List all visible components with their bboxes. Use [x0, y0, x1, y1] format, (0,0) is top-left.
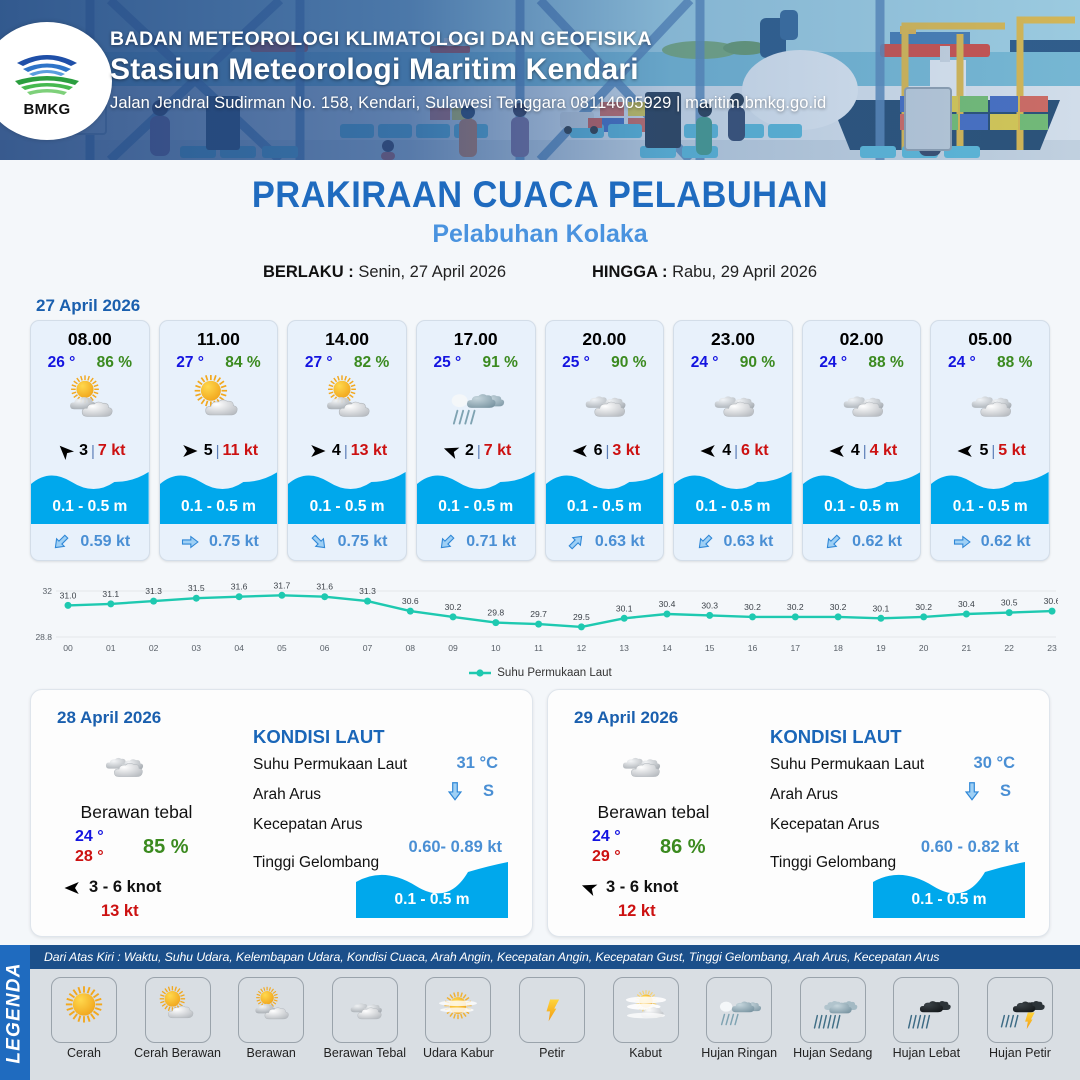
card-wind-speed: 6 [594, 442, 603, 460]
sst-data-point [364, 598, 371, 605]
card-separator: | [606, 443, 610, 460]
valid-from-value: Senin, 27 April 2026 [358, 263, 506, 281]
sst-data-point [877, 615, 884, 622]
card-wind-speed: 4 [332, 442, 341, 460]
current-direction-icon [961, 776, 983, 806]
legend-icon-tile [51, 977, 117, 1043]
y-axis-tick-max: 32 [43, 586, 53, 596]
card-wave-height: 0.1 - 0.5 m [803, 498, 921, 516]
current-direction-icon [564, 532, 588, 552]
card-weather-icon [803, 374, 921, 436]
card-wind-row: 4 | 13 kt [288, 436, 406, 466]
card-humidity: 90 % [740, 354, 775, 372]
card-separator: | [216, 443, 220, 460]
sst-data-label: 30.2 [915, 602, 932, 612]
panel-current-dir-icon [444, 776, 466, 806]
legend-items: Cerah Cerah Berawan Berawan Berawan Teba… [30, 969, 1080, 1060]
weather-icon-cerah-berawan [182, 375, 254, 435]
sst-data-point [920, 613, 927, 620]
card-temp-hum-row: 25 ° 91 % [417, 352, 535, 372]
title-block: PRAKIRAAN CUACA PELABUHAN Pelabuhan Kola… [0, 160, 1080, 282]
current-direction-icon [950, 532, 974, 552]
sst-data-point [535, 621, 542, 628]
current-direction-icon [307, 532, 331, 552]
card-weather-icon [674, 374, 792, 436]
card-current-row: 0.75 kt [288, 524, 406, 560]
sst-data-point [321, 593, 328, 600]
card-temperature: 27 ° [176, 354, 204, 372]
x-axis-tick: 14 [662, 643, 672, 653]
card-time: 11.00 [160, 321, 278, 352]
x-axis-tick: 16 [748, 643, 758, 653]
legend-marker-icon [468, 668, 492, 678]
panel-humidity: 86 % [660, 836, 706, 859]
card-humidity: 86 % [97, 354, 132, 372]
card-current-row: 0.75 kt [160, 524, 278, 560]
weather-icon-hujan-petir [992, 985, 1048, 1035]
chart-legend: Suhu Permukaan Laut [0, 667, 1080, 679]
x-axis-tick: 10 [491, 643, 501, 653]
card-wave: 0.1 - 0.5 m [803, 466, 921, 524]
sst-data-point [450, 613, 457, 620]
panel-humidity: 85 % [143, 836, 189, 859]
current-direction-icon [49, 532, 73, 552]
panel-gust: 13 kt [101, 902, 139, 921]
card-wind-row: 6 | 3 kt [546, 436, 664, 466]
sst-data-label: 29.8 [487, 608, 504, 618]
legend-item-label: Berawan [227, 1046, 315, 1060]
panel-temp-min: 24 ° [592, 828, 621, 846]
legend-item: Cerah [40, 977, 128, 1060]
sst-data-point [1049, 608, 1056, 615]
sst-data-point [749, 613, 756, 620]
weather-icon-petir [524, 985, 580, 1035]
card-current-speed: 0.71 kt [466, 533, 516, 551]
legend-item: Petir [508, 977, 596, 1060]
legend-item-label: Hujan Petir [976, 1046, 1064, 1060]
card-separator: | [863, 443, 867, 460]
sst-data-label: 29.5 [573, 612, 590, 622]
page-subtitle: Pelabuhan Kolaka [0, 220, 1080, 249]
x-axis-tick: 13 [619, 643, 629, 653]
card-wave: 0.1 - 0.5 m [288, 466, 406, 524]
page-header: BMKG BADAN METEOROLOGI KLIMATOLOGI DAN G… [0, 0, 1080, 160]
card-wind-row: 3 | 7 kt [31, 436, 149, 466]
card-weather-icon [417, 374, 535, 436]
x-axis-tick: 21 [962, 643, 972, 653]
x-axis-tick: 20 [919, 643, 929, 653]
x-axis-tick: 23 [1047, 643, 1057, 653]
panel-wind-range: 3 - 6 knot [606, 878, 678, 897]
card-wave: 0.1 - 0.5 m [546, 466, 664, 524]
panel-weather-icon [83, 738, 163, 794]
legend-icon-tile [893, 977, 959, 1043]
wind-direction-icon [578, 879, 600, 897]
card-humidity: 90 % [611, 354, 646, 372]
weather-icon-udara-kabur [430, 985, 486, 1035]
card-temperature: 24 ° [819, 354, 847, 372]
valid-from: BERLAKU : Senin, 27 April 2026 [263, 263, 506, 282]
x-axis-tick: 22 [1004, 643, 1014, 653]
sst-data-label: 30.2 [787, 602, 804, 612]
legend-item-label: Udara Kabur [414, 1046, 502, 1060]
legend-item-label: Hujan Lebat [882, 1046, 970, 1060]
card-temperature: 27 ° [305, 354, 333, 372]
sst-data-point [664, 611, 671, 618]
y-axis-tick-min: 28.8 [35, 632, 52, 642]
sst-data-point [107, 600, 114, 607]
valid-to: HINGGA : Rabu, 29 April 2026 [592, 263, 817, 282]
card-wave-height: 0.1 - 0.5 m [160, 498, 278, 516]
card-wind-row: 4 | 6 kt [674, 436, 792, 466]
card-separator: | [344, 443, 348, 460]
weather-icon-cerah [56, 985, 112, 1035]
sst-data-point [65, 602, 72, 609]
card-weather-icon [546, 374, 664, 436]
legend-item: Cerah Berawan [134, 977, 222, 1060]
card-weather-icon [288, 374, 406, 436]
legend-item: Udara Kabur [414, 977, 502, 1060]
card-weather-icon [160, 374, 278, 436]
card-current-speed: 0.63 kt [595, 533, 645, 551]
card-wind-speed: 4 [851, 442, 860, 460]
card-gust-speed: 7 kt [484, 442, 512, 460]
sst-data-label: 30.2 [445, 602, 462, 612]
card-gust-speed: 3 kt [612, 442, 640, 460]
panel-wave-graphic [873, 860, 1025, 918]
legend-item: Hujan Ringan [695, 977, 783, 1060]
panel-sst-label: Suhu Permukaan Laut [253, 756, 407, 774]
agency-name: BADAN METEOROLOGI KLIMATOLOGI DAN GEOFIS… [110, 28, 826, 51]
legend-item-label: Kabut [602, 1046, 690, 1060]
weather-icon-berawan [54, 375, 126, 435]
forecast-card: 11.00 27 ° 84 % 5 | 11 kt 0.1 - 0.5 m [159, 320, 279, 561]
panel-wave-value: 0.1 - 0.5 m [873, 891, 1025, 909]
card-current-row: 0.71 kt [417, 524, 535, 560]
weather-icon-hujan-ringan [440, 375, 512, 435]
card-separator: | [477, 443, 481, 460]
card-time: 14.00 [288, 321, 406, 352]
card-current-speed: 0.75 kt [209, 533, 259, 551]
sst-data-label: 31.7 [274, 580, 291, 590]
panel-current-dir-icon [961, 776, 983, 806]
panel-current-dir-label: Arah Arus [770, 786, 838, 804]
card-current-row: 0.63 kt [674, 524, 792, 560]
card-wave: 0.1 - 0.5 m [31, 466, 149, 524]
sst-data-label: 30.6 [402, 596, 419, 606]
panel-current-dir-label: Arah Arus [253, 786, 321, 804]
card-gust-speed: 11 kt [223, 442, 259, 460]
sst-chart-plot: 3228.831.00031.10131.30231.50331.60431.7… [22, 573, 1058, 665]
x-axis-tick: 05 [277, 643, 287, 653]
sst-data-label: 30.1 [873, 603, 890, 613]
sst-data-point [792, 613, 799, 620]
x-axis-tick: 00 [63, 643, 73, 653]
card-time: 17.00 [417, 321, 535, 352]
sst-data-label: 30.5 [1001, 598, 1018, 608]
x-axis-tick: 18 [833, 643, 843, 653]
current-direction-icon [693, 532, 717, 552]
card-wave-height: 0.1 - 0.5 m [674, 498, 792, 516]
wind-direction-icon [697, 442, 719, 460]
sst-data-label: 30.4 [659, 599, 676, 609]
x-axis-tick: 03 [192, 643, 202, 653]
card-gust-speed: 5 kt [998, 442, 1026, 460]
valid-to-label: HINGGA : [592, 263, 667, 281]
panel-wave-value: 0.1 - 0.5 m [356, 891, 508, 909]
sst-data-point [150, 598, 157, 605]
forecast-card: 17.00 25 ° 91 % 2 | 7 kt 0.1 - 0.5 m [416, 320, 536, 561]
sst-data-label: 31.3 [359, 586, 376, 596]
wind-direction-icon [179, 442, 201, 460]
forecast-card-strip: 08.00 26 ° 86 % 3 | 7 kt 0.1 - 0.5 m [0, 320, 1080, 561]
card-current-row: 0.59 kt [31, 524, 149, 560]
sst-data-point [407, 608, 414, 615]
wind-direction-icon [569, 442, 591, 460]
sst-data-point [193, 595, 200, 602]
sst-data-label: 31.6 [231, 582, 248, 592]
card-separator: | [734, 443, 738, 460]
card-wave: 0.1 - 0.5 m [160, 466, 278, 524]
legend-icon-tile [800, 977, 866, 1043]
x-axis-tick: 07 [363, 643, 373, 653]
station-address: Jalan Jendral Sudirman No. 158, Kendari,… [110, 94, 826, 113]
weather-icon-berawan-tebal [83, 738, 163, 794]
wind-direction-icon [954, 442, 976, 460]
sst-data-label: 30.3 [701, 600, 718, 610]
sst-data-label: 31.0 [60, 590, 77, 600]
weather-icon-hujan-sedang [805, 985, 861, 1035]
x-axis-tick: 15 [705, 643, 715, 653]
wind-direction-icon [307, 442, 329, 460]
forecast-card: 14.00 27 ° 82 % 4 | 13 kt 0.1 - 0.5 m [287, 320, 407, 561]
legend-item-label: Petir [508, 1046, 596, 1060]
weather-icon-hujan-ringan [711, 985, 767, 1035]
legend-strip-label: LEGENDA [4, 962, 26, 1063]
card-wave-height: 0.1 - 0.5 m [546, 498, 664, 516]
sst-data-point [706, 612, 713, 619]
card-wave: 0.1 - 0.5 m [417, 466, 535, 524]
card-temp-hum-row: 27 ° 82 % [288, 352, 406, 372]
legend-icon-tile [613, 977, 679, 1043]
panel-wind-row: 3 - 6 knot [61, 878, 161, 897]
card-time: 08.00 [31, 321, 149, 352]
panel-condition: Berawan tebal [49, 802, 224, 823]
sst-data-label: 31.1 [102, 589, 119, 599]
panel-current-dir-value: S [1000, 782, 1011, 801]
card-temp-hum-row: 24 ° 90 % [674, 352, 792, 372]
legend-item: Kabut [602, 977, 690, 1060]
card-temperature: 25 ° [434, 354, 462, 372]
header-text-block: BADAN METEOROLOGI KLIMATOLOGI DAN GEOFIS… [110, 28, 826, 113]
panel-current-speed-value: 0.60 - 0.82 kt [921, 838, 1019, 857]
chart-legend-label: Suhu Permukaan Laut [497, 667, 611, 679]
panel-condition: Berawan tebal [566, 802, 741, 823]
card-wind-speed: 3 [79, 442, 88, 460]
panel-sst-value: 30 °C [974, 754, 1015, 773]
sst-data-point [236, 593, 243, 600]
card-gust-speed: 13 kt [351, 442, 387, 460]
x-axis-tick: 04 [234, 643, 244, 653]
weather-icon-berawan-tebal [954, 375, 1026, 435]
bmkg-logo-text: BMKG [23, 101, 70, 118]
page-title: PRAKIRAAN CUACA PELABUHAN [38, 174, 1042, 216]
panel-temp-max: 28 ° [75, 848, 104, 866]
panel-gust: 12 kt [618, 902, 656, 921]
wind-direction-icon [54, 442, 76, 460]
sst-data-label: 30.2 [830, 602, 847, 612]
legend-item-label: Hujan Ringan [695, 1046, 783, 1060]
legend-icon-tile [332, 977, 398, 1043]
card-separator: | [91, 443, 95, 460]
sst-data-label: 30.6 [1044, 596, 1058, 606]
panel-weather-icon [600, 738, 680, 794]
card-temp-hum-row: 25 ° 90 % [546, 352, 664, 372]
panel-temp-min: 24 ° [75, 828, 104, 846]
card-current-row: 0.63 kt [546, 524, 664, 560]
card-gust-speed: 4 kt [870, 442, 898, 460]
card-wind-speed: 5 [204, 442, 213, 460]
legend-strip: LEGENDA [0, 945, 30, 1080]
current-direction-icon [821, 532, 845, 552]
panel-current-speed-label: Kecepatan Arus [253, 816, 362, 834]
sst-chart: 3228.831.00031.10131.30231.50331.60431.7… [22, 573, 1058, 665]
weather-icon-berawan-tebal [337, 985, 393, 1035]
panel-current-dir-value: S [483, 782, 494, 801]
card-humidity: 84 % [225, 354, 260, 372]
card-temp-hum-row: 24 ° 88 % [803, 352, 921, 372]
card-time: 05.00 [931, 321, 1049, 352]
card-wind-row: 5 | 5 kt [931, 436, 1049, 466]
card-weather-icon [31, 374, 149, 436]
card-temp-hum-row: 24 ° 88 % [931, 352, 1049, 372]
panel-date: 28 April 2026 [57, 708, 161, 728]
sst-data-point [963, 611, 970, 618]
legend-item: Hujan Sedang [789, 977, 877, 1060]
validity-row: BERLAKU : Senin, 27 April 2026 HINGGA : … [0, 263, 1080, 282]
station-name: Stasiun Meteorologi Maritim Kendari [110, 53, 826, 87]
card-wind-row: 4 | 4 kt [803, 436, 921, 466]
card-temp-hum-row: 26 ° 86 % [31, 352, 149, 372]
card-current-speed: 0.62 kt [981, 533, 1031, 551]
daily-summary-panel: 29 April 2026 Berawan tebal 24 ° 29 ° 86… [547, 689, 1050, 937]
card-weather-icon [931, 374, 1049, 436]
card-wave: 0.1 - 0.5 m [674, 466, 792, 524]
card-wave-height: 0.1 - 0.5 m [288, 498, 406, 516]
forecast-card: 23.00 24 ° 90 % 4 | 6 kt 0.1 - 0.5 m [673, 320, 793, 561]
current-direction-icon [435, 532, 459, 552]
card-current-row: 0.62 kt [803, 524, 921, 560]
x-axis-tick: 12 [577, 643, 587, 653]
wind-direction-icon [826, 442, 848, 460]
card-wind-speed: 2 [465, 442, 474, 460]
x-axis-tick: 11 [534, 643, 543, 653]
legend-icon-tile [238, 977, 304, 1043]
legend-item-label: Berawan Tebal [321, 1046, 409, 1060]
panel-sea-title: KONDISI LAUT [253, 726, 385, 748]
current-direction-icon [444, 776, 466, 806]
card-wave: 0.1 - 0.5 m [931, 466, 1049, 524]
legend-item: Hujan Petir [976, 977, 1064, 1060]
panel-wind-row: 3 - 6 knot [578, 878, 678, 897]
card-current-speed: 0.59 kt [80, 533, 130, 551]
card-current-row: 0.62 kt [931, 524, 1049, 560]
card-temperature: 24 ° [691, 354, 719, 372]
card-humidity: 91 % [483, 354, 518, 372]
card-time: 02.00 [803, 321, 921, 352]
legend-icon-tile [987, 977, 1053, 1043]
x-axis-tick: 02 [149, 643, 159, 653]
sst-data-point [578, 623, 585, 630]
forecast-card: 08.00 26 ° 86 % 3 | 7 kt 0.1 - 0.5 m [30, 320, 150, 561]
panel-current-speed-label: Kecepatan Arus [770, 816, 879, 834]
forecast-card: 20.00 25 ° 90 % 6 | 3 kt 0.1 - 0.5 m [545, 320, 665, 561]
card-current-speed: 0.63 kt [724, 533, 774, 551]
x-axis-tick: 19 [876, 643, 886, 653]
sst-data-point [278, 592, 285, 599]
legend-item-label: Cerah [40, 1046, 128, 1060]
legend-icon-tile [145, 977, 211, 1043]
legend-icon-tile [706, 977, 772, 1043]
card-humidity: 88 % [997, 354, 1032, 372]
sst-data-label: 30.2 [744, 602, 761, 612]
daily-summary-panels: 28 April 2026 Berawan tebal 24 ° 28 ° 85… [0, 679, 1080, 937]
weather-icon-hujan-lebat [898, 985, 954, 1035]
x-axis-tick: 06 [320, 643, 330, 653]
legend-icon-tile [425, 977, 491, 1043]
sst-data-label: 30.4 [958, 599, 975, 609]
weather-icon-berawan-tebal [826, 375, 898, 435]
forecast-date: 27 April 2026 [36, 296, 1080, 316]
legend-icon-tile [519, 977, 585, 1043]
card-time: 23.00 [674, 321, 792, 352]
card-current-speed: 0.75 kt [338, 533, 388, 551]
legend-item: Hujan Lebat [882, 977, 970, 1060]
legend-note: Dari Atas Kiri : Waktu, Suhu Udara, Kele… [30, 945, 1080, 969]
weather-icon-berawan-tebal [697, 375, 769, 435]
card-temperature: 24 ° [948, 354, 976, 372]
panel-current-speed-value: 0.60- 0.89 kt [408, 838, 502, 857]
legend-item: Berawan Tebal [321, 977, 409, 1060]
sst-line-series [68, 595, 1052, 627]
x-axis-tick: 09 [448, 643, 458, 653]
card-humidity: 82 % [354, 354, 389, 372]
card-separator: | [991, 443, 995, 460]
sst-data-label: 30.1 [616, 603, 633, 613]
sst-data-label: 31.6 [316, 582, 333, 592]
weather-icon-kabut [618, 985, 674, 1035]
card-humidity: 88 % [868, 354, 903, 372]
bmkg-logo-glyph [11, 45, 83, 99]
legend-body: Dari Atas Kiri : Waktu, Suhu Udara, Kele… [30, 945, 1080, 1080]
card-wave-height: 0.1 - 0.5 m [417, 498, 535, 516]
card-wind-speed: 4 [722, 442, 731, 460]
card-wave-height: 0.1 - 0.5 m [931, 498, 1049, 516]
legend-item-label: Hujan Sedang [789, 1046, 877, 1060]
card-gust-speed: 6 kt [741, 442, 769, 460]
x-axis-tick: 08 [406, 643, 416, 653]
x-axis-tick: 17 [791, 643, 801, 653]
panel-temp-max: 29 ° [592, 848, 621, 866]
sst-data-point [492, 619, 499, 626]
sst-data-label: 31.3 [145, 586, 162, 596]
weather-icon-berawan [311, 375, 383, 435]
card-time: 20.00 [546, 321, 664, 352]
daily-summary-panel: 28 April 2026 Berawan tebal 24 ° 28 ° 85… [30, 689, 533, 937]
card-temperature: 26 ° [48, 354, 76, 372]
weather-icon-berawan-tebal [600, 738, 680, 794]
panel-date: 29 April 2026 [574, 708, 678, 728]
